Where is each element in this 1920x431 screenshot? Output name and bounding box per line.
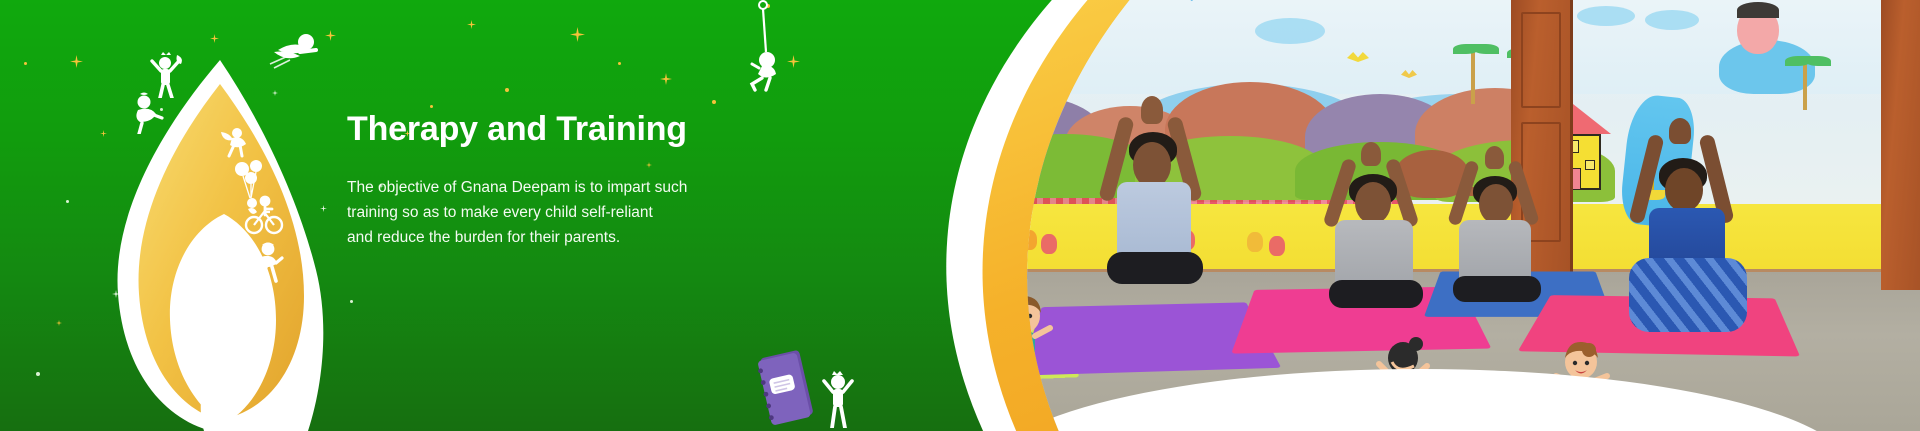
description-line-2: training so as to make every child self-… bbox=[347, 200, 767, 225]
yoga-participant-4 bbox=[1447, 146, 1551, 306]
swinging-child-on-rope-icon bbox=[742, 0, 784, 92]
description-line-3: and reduce the burden for their parents. bbox=[347, 225, 767, 250]
yoga-participant-5 bbox=[1621, 118, 1755, 338]
flying-hero-child-icon bbox=[268, 30, 326, 72]
child-on-bicycle-icon bbox=[244, 192, 284, 236]
yoga-therapy-session-photo bbox=[835, 0, 1920, 431]
banner-text-block: Therapy and Training The objective of Gn… bbox=[347, 110, 767, 250]
description-line-1: The objective of Gnana Deepam is to impa… bbox=[347, 175, 767, 200]
wooden-door-right bbox=[1881, 0, 1920, 290]
banner-description: The objective of Gnana Deepam is to impa… bbox=[347, 175, 767, 250]
yoga-participant-3 bbox=[1321, 142, 1433, 312]
yoga-participant-2 bbox=[1097, 96, 1215, 296]
page-title: Therapy and Training bbox=[347, 110, 767, 149]
therapy-training-banner: Therapy and Training The objective of Gn… bbox=[0, 0, 1920, 431]
fairy-child-icon bbox=[218, 124, 252, 158]
child-sitting-icon bbox=[130, 92, 164, 134]
child-running-icon bbox=[248, 240, 284, 284]
